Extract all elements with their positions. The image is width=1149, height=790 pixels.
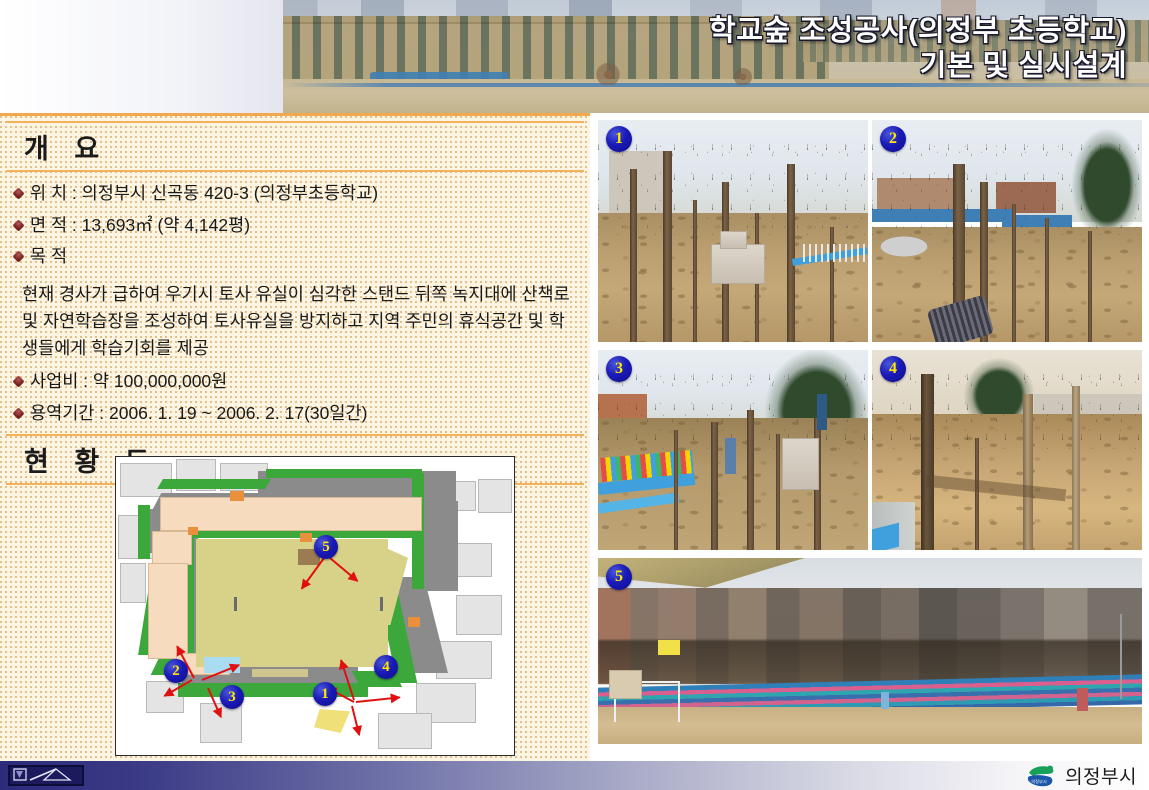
photo-branches [872, 350, 1142, 454]
map-school-building-wing [152, 531, 192, 565]
map-goal-post [380, 597, 383, 611]
map-marker-1[interactable]: 1 [313, 682, 337, 706]
photo-concrete-block [720, 231, 747, 249]
photo-person [817, 394, 828, 430]
photo-concrete-box [782, 438, 820, 490]
photo-tree-trunk [674, 430, 678, 550]
bullet-icon [12, 187, 24, 199]
photo-1-canvas [598, 120, 868, 342]
map-marker-4[interactable]: 4 [374, 655, 398, 679]
photo-3-badge: 3 [606, 356, 632, 382]
photo-5-canvas [598, 558, 1142, 744]
map-green-belt [266, 469, 422, 478]
photo-tree-trunk [787, 164, 795, 342]
overview-purpose-label: 목 적 [30, 245, 67, 269]
photo-post-block [609, 670, 642, 700]
photo-person [1077, 688, 1088, 710]
bullet-icon [12, 219, 24, 231]
photo-tree-trunk [711, 422, 718, 550]
photo-tree-trunk [1088, 231, 1092, 342]
left-panel: 개 요 위 치 : 의정부시 신곡동 420-3 (의정부초등학교) 면 적 :… [0, 113, 590, 761]
photo-tree-trunk [1012, 204, 1016, 342]
photo-5-badge: 5 [606, 564, 632, 590]
svg-text:의정부시: 의정부시 [1031, 778, 1047, 785]
city-logo: 의정부시 의정부시 [1026, 762, 1137, 789]
overview-purpose-paragraph: 현재 경사가 급하여 우기시 토사 유실이 심각한 스탠드 뒤쪽 녹지대에 산책… [0, 277, 590, 368]
photo-4[interactable]: 4 [872, 350, 1142, 550]
map-feature-orange [300, 533, 312, 542]
map-feature-orange [188, 527, 198, 535]
photo-4-badge: 4 [880, 356, 906, 382]
overview-section-header: 개 요 [6, 121, 584, 172]
map-playfield [196, 539, 388, 667]
photo-tree-trunk [1023, 394, 1033, 550]
list-item: 위 치 : 의정부시 신곡동 420-3 (의정부초등학교) [10, 182, 590, 206]
footer-bar: 의정부시 의정부시 [0, 761, 1149, 790]
map-marker-3[interactable]: 3 [220, 685, 244, 709]
overview-bullet-list-2: 사업비 : 약 100,000,000원 용역기간 : 2006. 1. 19 … [0, 368, 590, 425]
photo-3[interactable]: 3 [598, 350, 868, 550]
overview-location: 위 치 : 의정부시 신곡동 420-3 (의정부초등학교) [30, 182, 378, 206]
photo-tree-trunk [630, 169, 637, 342]
map-green-belt [412, 473, 424, 589]
overview-budget: 사업비 : 약 100,000,000원 [30, 370, 227, 394]
photo-3-canvas [598, 350, 868, 550]
map-neighbor-block [378, 713, 432, 749]
overview-period: 용역기간 : 2006. 1. 19 ~ 2006. 2. 17(30일간) [30, 402, 367, 426]
photo-tree-trunk [1072, 386, 1080, 550]
photo-2-canvas [872, 120, 1142, 342]
overview-bullet-list: 위 치 : 의정부시 신곡동 420-3 (의정부초등학교) 면 적 : 13,… [0, 172, 590, 269]
city-logo-text: 의정부시 [1065, 762, 1137, 789]
photo-tree-trunk [921, 374, 934, 550]
map-feature-orange [230, 491, 244, 501]
map-feature-orange [408, 617, 420, 627]
photo-4-canvas [872, 350, 1142, 550]
map-neighbor-block [478, 479, 512, 513]
photo-2[interactable]: 2 [872, 120, 1142, 342]
photo-schoolyard-ground [598, 707, 1142, 744]
map-bench-row [252, 669, 308, 677]
photo-yellow-sign [658, 640, 680, 655]
photo-grid: 1 2 [590, 113, 1149, 761]
map-green-belt [157, 479, 271, 489]
map-neighbor-block [120, 563, 146, 603]
photo-tree-trunk [747, 410, 754, 550]
bullet-icon [12, 407, 24, 419]
photo-5[interactable]: 5 [598, 558, 1142, 744]
list-item: 사업비 : 약 100,000,000원 [10, 370, 590, 394]
photo-1[interactable]: 1 [598, 120, 868, 342]
uijeongbu-emblem-icon: 의정부시 [1026, 764, 1060, 788]
map-goal-post [234, 597, 237, 611]
drafting-icon[interactable] [8, 765, 84, 786]
list-item: 면 적 : 13,693㎡ (약 4,142평) [10, 214, 590, 238]
bullet-icon [12, 251, 24, 263]
photo-tree-trunk [1045, 218, 1049, 342]
list-item: 용역기간 : 2006. 1. 19 ~ 2006. 2. 17(30일간) [10, 402, 590, 426]
photo-1-badge: 1 [606, 126, 632, 152]
map-school-building-main [160, 497, 422, 531]
photo-tree-trunk [776, 434, 780, 550]
photo-branches [872, 120, 1142, 235]
photo-debris [877, 235, 931, 257]
bullet-icon [12, 376, 24, 388]
page-title: 학교숲 조성공사(의정부 초등학교) 기본 및 실시설계 [407, 14, 1127, 85]
overview-area: 면 적 : 13,693㎡ (약 4,142평) [30, 214, 250, 238]
photo-tree-trunk [693, 200, 697, 342]
list-item: 목 적 [10, 245, 590, 269]
photo-light-pole [1120, 614, 1122, 700]
page-title-line1: 학교숲 조성공사(의정부 초등학교) [709, 15, 1127, 47]
photo-concrete-block [711, 244, 765, 284]
overview-section-title: 개 요 [6, 123, 584, 170]
photo-fence-rail [803, 244, 868, 262]
photo-tree-trunk [975, 438, 979, 550]
map-marker-2[interactable]: 2 [164, 659, 188, 683]
page-title-line2: 기본 및 실시설계 [407, 49, 1127, 84]
photo-person [881, 692, 889, 709]
site-plan-map[interactable]: 1 2 3 4 5 [115, 456, 515, 756]
map-green-belt [138, 505, 150, 559]
photo-branches [598, 120, 868, 235]
photo-tree-trunk [663, 151, 672, 342]
map-marker-5[interactable]: 5 [314, 535, 338, 559]
slide-root: 학교숲 조성공사(의정부 초등학교) 기본 및 실시설계 개 요 위 치 : 의… [0, 0, 1149, 790]
map-neighbor-block [456, 595, 502, 635]
photo-person [725, 438, 736, 474]
photo-2-badge: 2 [880, 126, 906, 152]
